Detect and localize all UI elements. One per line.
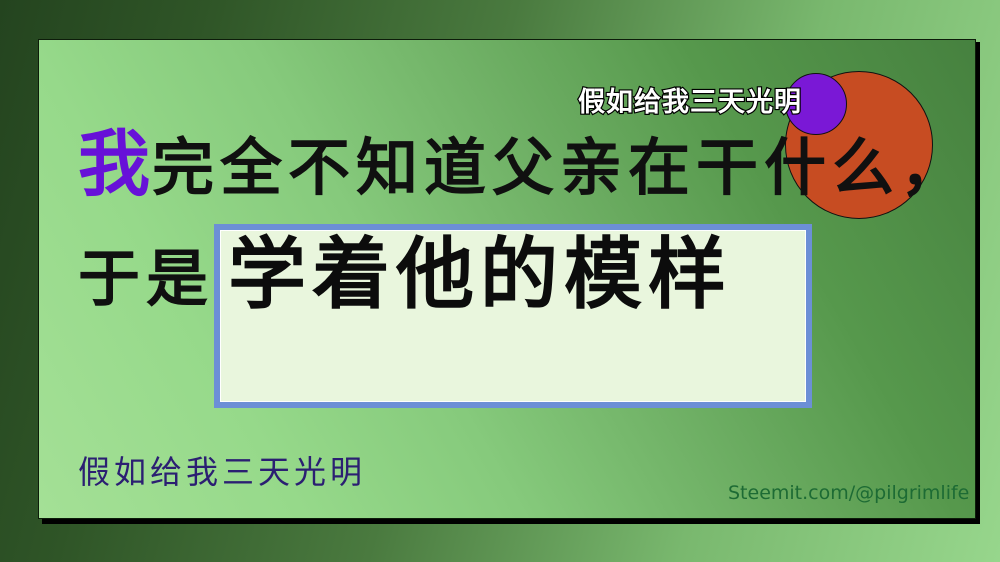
- headline-accent-character: 我: [78, 121, 152, 206]
- slide-canvas: 假如给我三天光明 我完全不知道父亲在干什么， 于是 学着他的模样 假如给我三天光…: [0, 0, 1000, 562]
- footer-caption: 假如给我三天光明: [78, 447, 366, 493]
- headline-line-2: 于是: [78, 248, 214, 310]
- headline-line-1: 我完全不知道父亲在干什么，: [78, 128, 968, 200]
- watermark-label: Steemit.com/@pilgrimlife: [728, 482, 969, 504]
- headline-line-1-text: 完全不知道父亲在干什么，: [152, 131, 968, 204]
- highlight-box-text: 学着他的模样: [228, 236, 732, 314]
- slide-small-title: 假如给我三天光明: [578, 80, 802, 119]
